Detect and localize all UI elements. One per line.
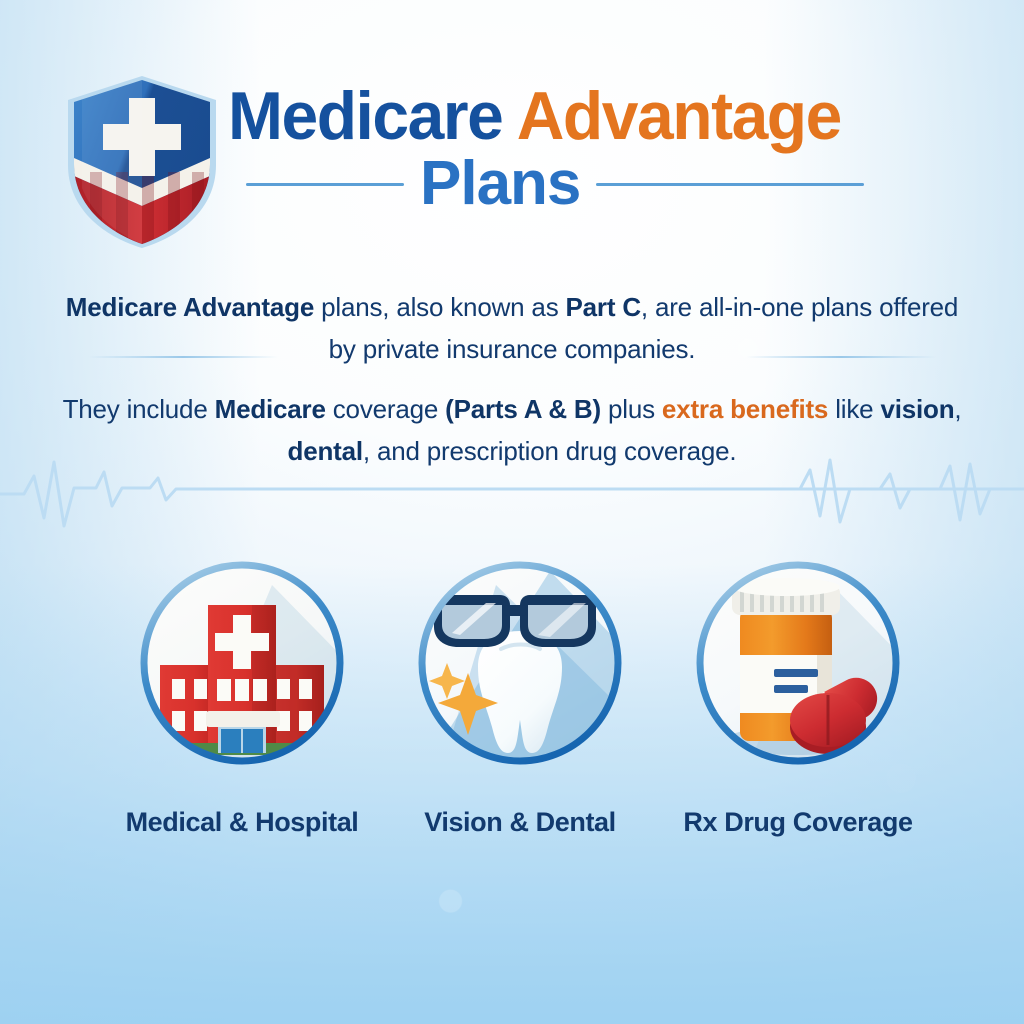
heartbeat-ekg-line — [0, 448, 1024, 538]
title-block: Medicare Advantage Plans — [228, 78, 888, 218]
p1-bold-medicare-advantage: Medicare Advantage — [66, 292, 314, 322]
p2-bold-parts-a-b: (Parts A & B) — [445, 394, 601, 424]
feature-card-medical-hospital[interactable]: Medical & Hospital — [97, 545, 387, 838]
page-title: Medicare Advantage — [228, 78, 868, 154]
p1-bold-part-c: Part C — [566, 292, 641, 322]
feature-card-rx-drug[interactable]: Rx Drug Coverage — [653, 545, 943, 838]
p2-bold-vision: vision — [880, 394, 954, 424]
body-copy: Medicare Advantage plans, also known as … — [60, 286, 964, 472]
p2-highlight-extra-benefits: extra benefits — [662, 394, 828, 424]
hospital-building-icon — [122, 545, 362, 785]
header: Medicare Advantage Plans — [0, 0, 1024, 260]
feature-label-vision-dental: Vision & Dental — [375, 807, 665, 838]
p2-text-e: , — [954, 394, 961, 424]
divider-line-right — [746, 356, 936, 358]
feature-row: Medical & Hospital — [0, 545, 1024, 865]
medical-shield-icon — [66, 76, 218, 248]
p2-bold-medicare: Medicare — [215, 394, 326, 424]
p1-text-a: plans, also known as — [314, 292, 565, 322]
subtitle-rule-left — [246, 183, 404, 186]
title-word-advantage: Advantage — [517, 78, 841, 154]
title-space — [502, 78, 516, 154]
p2-text-b: coverage — [326, 394, 445, 424]
p2-text-c: plus — [601, 394, 662, 424]
divider-line-left — [88, 356, 278, 358]
p2-text-d: like — [828, 394, 880, 424]
subtitle-rule-right — [596, 183, 864, 186]
feature-label-rx-drug: Rx Drug Coverage — [653, 807, 943, 838]
page-subtitle: Plans — [420, 150, 580, 218]
glasses-tooth-icon — [400, 545, 640, 785]
infographic-poster: Medicare Advantage Plans Medicare Advant… — [0, 0, 1024, 1024]
feature-label-medical-hospital: Medical & Hospital — [97, 807, 387, 838]
p2-text-a: They include — [63, 394, 215, 424]
feature-card-vision-dental[interactable]: Vision & Dental — [375, 545, 665, 838]
subtitle-row: Plans — [246, 150, 888, 218]
title-word-medicare: Medicare — [228, 78, 502, 154]
pill-bottle-icon — [678, 545, 918, 785]
